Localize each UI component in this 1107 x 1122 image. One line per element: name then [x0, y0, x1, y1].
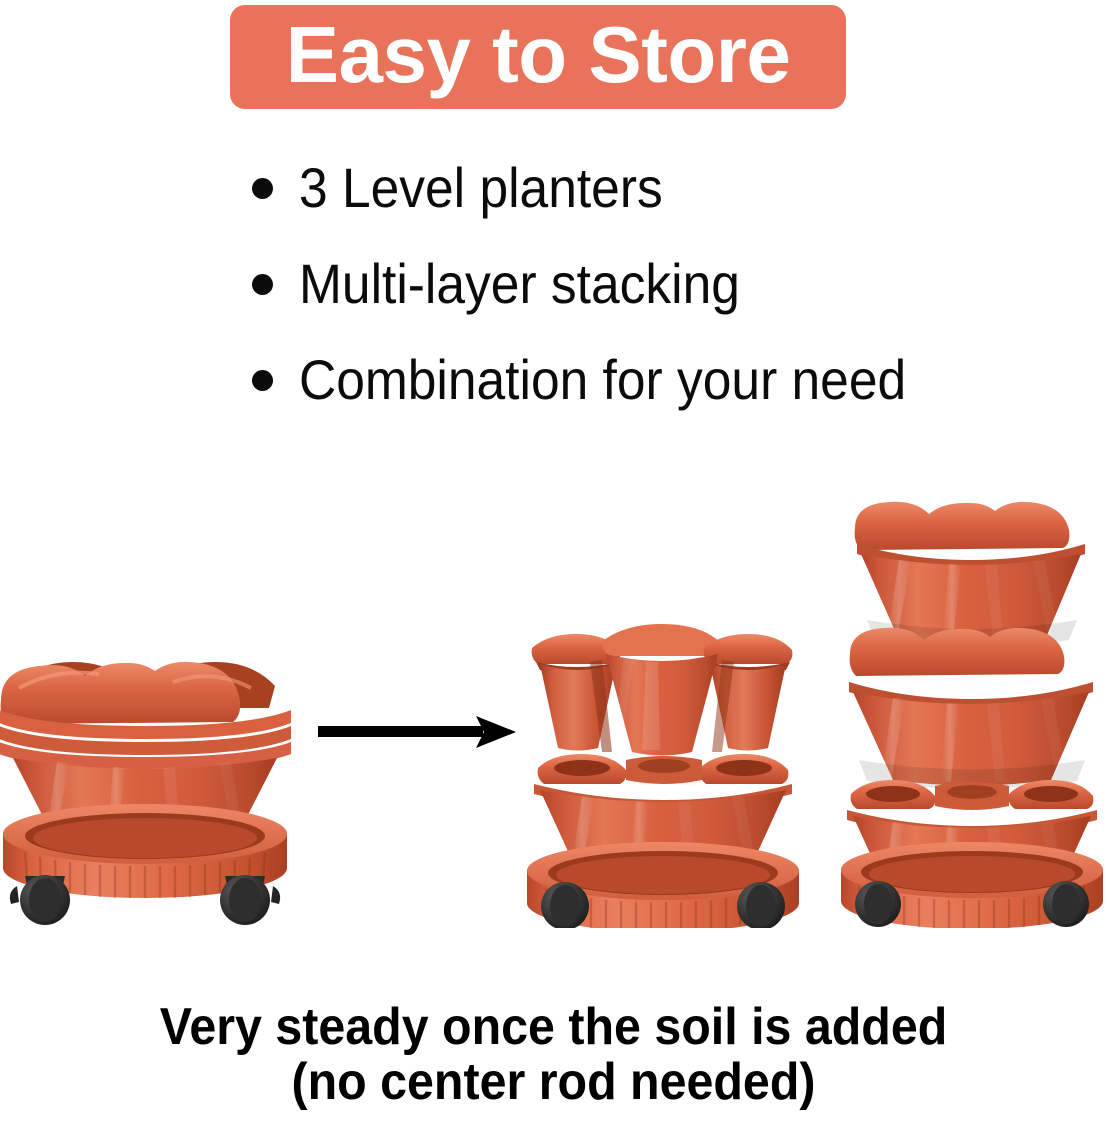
title-banner: Easy to Store: [230, 5, 846, 109]
caster-wheel: [737, 882, 785, 928]
caption-line-2: (no center rod needed): [39, 1055, 1069, 1110]
bullet-icon: [252, 178, 273, 199]
planter-tier-middle: [849, 628, 1093, 789]
feature-label: Multi-layer stacking: [299, 256, 740, 312]
feature-label: Combination for your need: [299, 352, 906, 408]
planter-rim: [0, 662, 291, 769]
feature-label: 3 Level planters: [299, 160, 663, 216]
bullet-icon: [252, 274, 273, 295]
caster-wheel: [1043, 881, 1089, 927]
caster-wheel: [10, 875, 70, 925]
list-item: Combination for your need: [252, 332, 1072, 428]
list-item: Multi-layer stacking: [252, 236, 1072, 332]
page-title: Easy to Store: [286, 15, 791, 95]
three-tier-planter-stack: [833, 488, 1107, 928]
caster-wheel: [220, 875, 280, 925]
right-arrow-icon: [318, 712, 518, 752]
planter-tier-top: [855, 502, 1085, 647]
bottom-caption: Very steady once the soil is added (no c…: [0, 1000, 1107, 1110]
product-illustration: [0, 430, 1107, 950]
bullet-icon: [252, 370, 273, 391]
list-item: 3 Level planters: [252, 140, 1072, 236]
caption-line-1: Very steady once the soil is added: [39, 1000, 1069, 1055]
single-tier-planter: [0, 638, 295, 928]
three-tier-planter-graphic: [833, 488, 1107, 928]
caster-wheel: [541, 882, 589, 928]
two-tier-planter-graphic: [518, 618, 808, 928]
two-tier-planter-stack: [518, 618, 808, 928]
planter-tier-upper: [532, 624, 793, 756]
caster-wheel: [855, 881, 901, 927]
feature-list: 3 Level planters Multi-layer stacking Co…: [252, 140, 1072, 428]
single-tier-planter-graphic: [0, 638, 295, 928]
